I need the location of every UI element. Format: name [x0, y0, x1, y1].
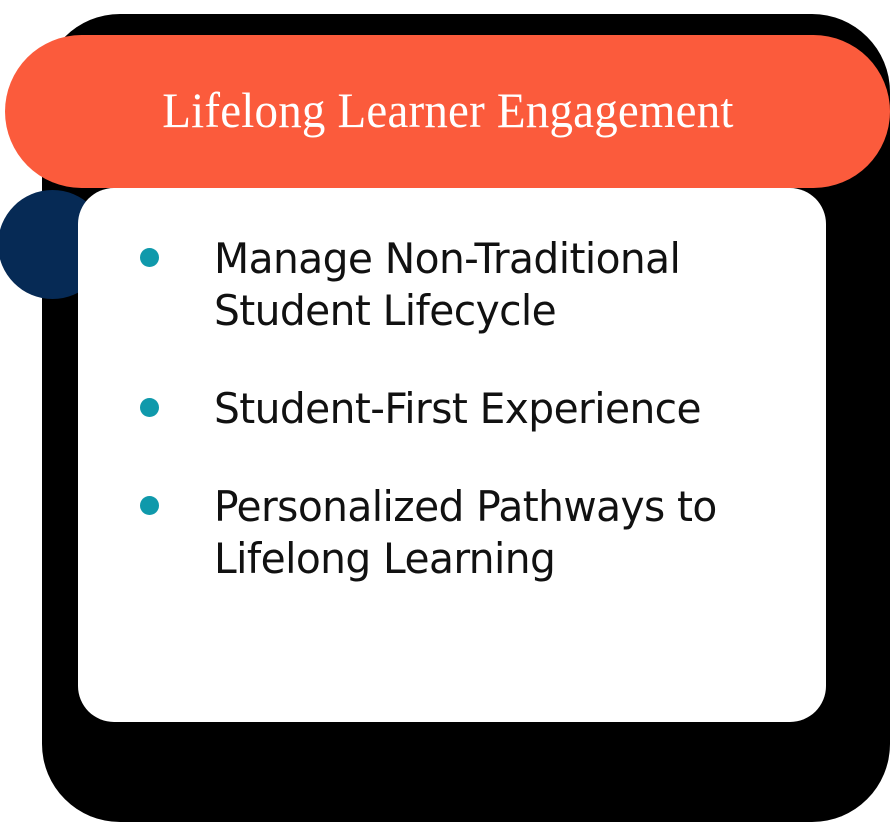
card-header-banner: Lifelong Learner Engagement [5, 35, 890, 188]
lifelong-learner-engagement-card: Lifelong Learner Engagement Manage Non-T… [0, 0, 894, 833]
feature-bullet-list: Manage Non-Traditional Student Lifecycle… [78, 188, 826, 722]
list-item: Student-First Experience [140, 383, 786, 435]
bullet-dot-icon [140, 398, 159, 417]
list-item-label: Student-First Experience [214, 383, 769, 435]
list-item: Manage Non-Traditional Student Lifecycle [140, 233, 786, 337]
bullet-dot-icon [140, 496, 159, 515]
list-item-label: Manage Non-Traditional Student Lifecycle [214, 233, 769, 337]
list-item-label: Personalized Pathways to Lifelong Learni… [214, 481, 769, 585]
card-title: Lifelong Learner Engagement [162, 85, 733, 139]
bullet-dot-icon [140, 248, 159, 267]
list-item: Personalized Pathways to Lifelong Learni… [140, 481, 786, 585]
